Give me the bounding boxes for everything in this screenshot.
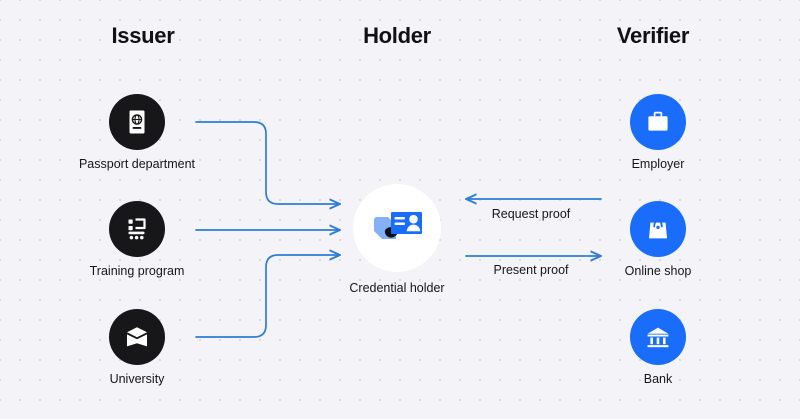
university-circle [109, 309, 165, 365]
diagram-canvas: Issuer Holder Verifier [0, 0, 800, 419]
graduation-cap-icon [122, 322, 152, 352]
training-flowchart-icon [122, 214, 152, 244]
briefcase-icon [643, 107, 673, 137]
node-online-shop[interactable]: Online shop [578, 201, 738, 279]
node-label-university: University [57, 372, 217, 387]
node-university[interactable]: University [57, 309, 217, 387]
node-employer[interactable]: Employer [578, 94, 738, 172]
column-heading-issuer: Issuer [111, 23, 174, 49]
node-passport-department[interactable]: Passport department [57, 94, 217, 172]
shop-circle [630, 201, 686, 257]
node-label-bank: Bank [578, 372, 738, 387]
shopping-bag-icon [643, 214, 673, 244]
node-training-program[interactable]: Training program [57, 201, 217, 279]
column-heading-verifier: Verifier [617, 23, 689, 49]
node-label-holder: Credential holder [317, 281, 477, 296]
flow-label-present-proof: Present proof [493, 263, 568, 277]
node-label-employer: Employer [578, 157, 738, 172]
passport-icon [122, 107, 152, 137]
id-card-in-hand-icon [368, 205, 426, 251]
node-credential-holder[interactable]: Credential holder [317, 184, 477, 296]
passport-circle [109, 94, 165, 150]
node-label-shop: Online shop [578, 264, 738, 279]
node-bank[interactable]: Bank [578, 309, 738, 387]
holder-circle [353, 184, 441, 272]
employer-circle [630, 94, 686, 150]
flow-label-request-proof: Request proof [492, 207, 571, 221]
node-label-passport: Passport department [57, 157, 217, 172]
node-label-training: Training program [57, 264, 217, 279]
column-heading-holder: Holder [363, 23, 431, 49]
training-circle [109, 201, 165, 257]
bank-building-icon [643, 322, 673, 352]
bank-circle [630, 309, 686, 365]
